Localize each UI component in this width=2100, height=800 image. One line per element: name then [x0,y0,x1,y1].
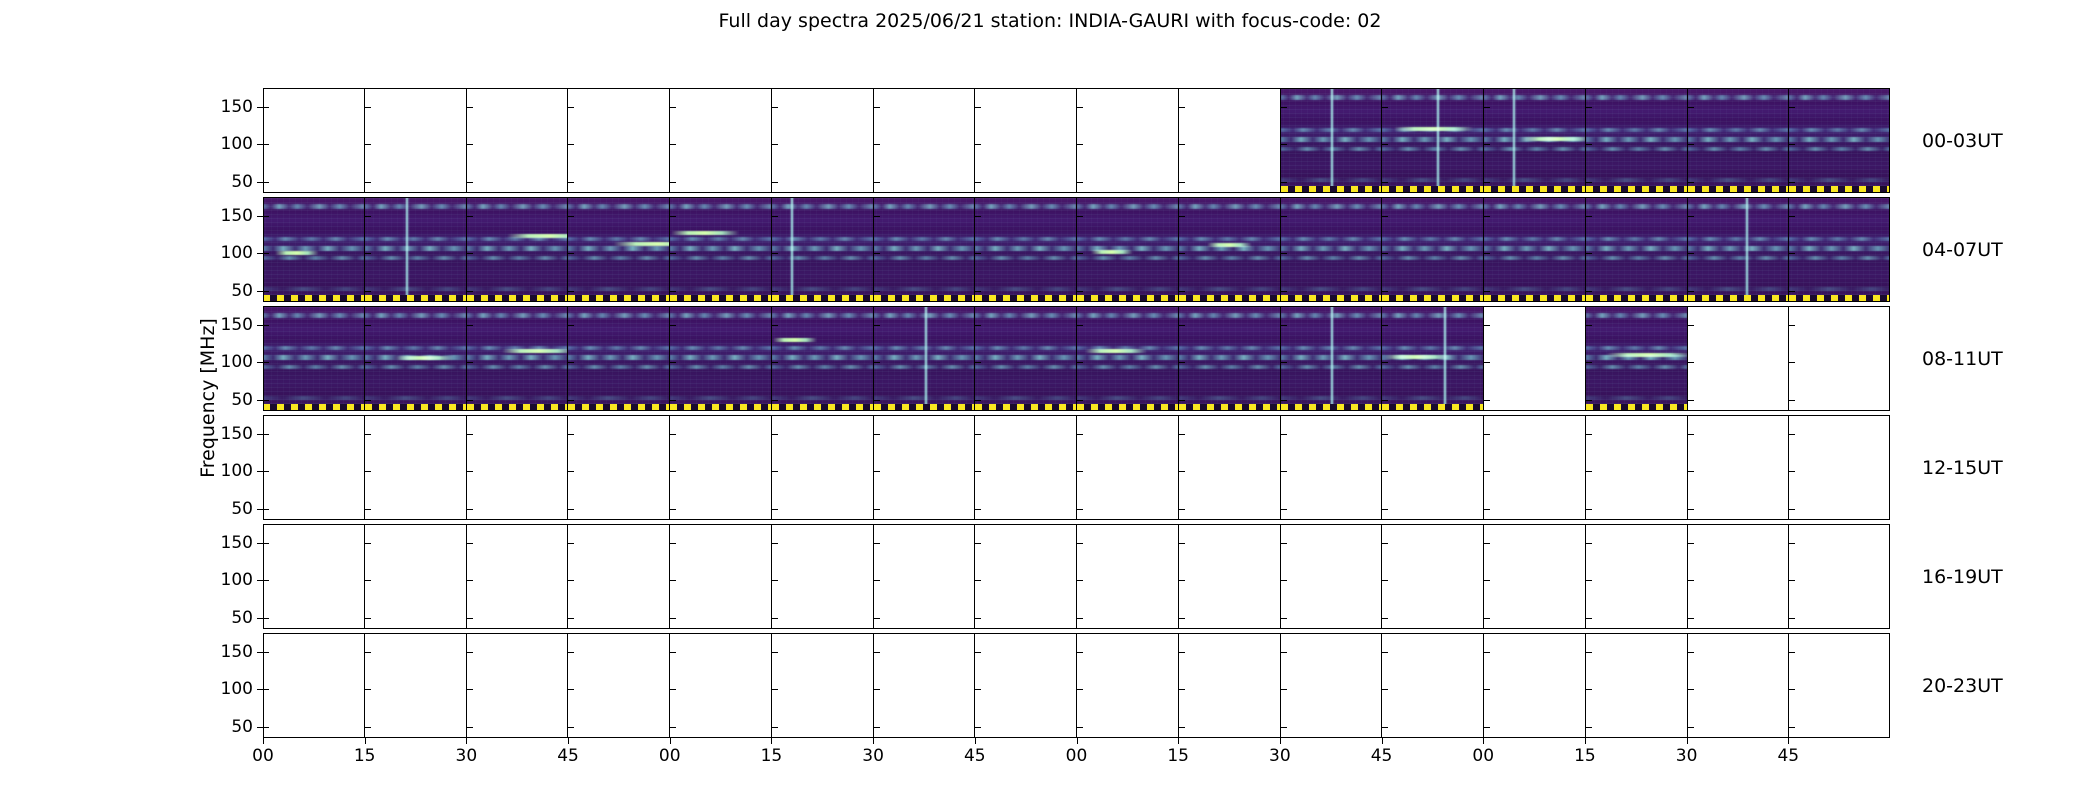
y-axis-tick [1789,652,1795,653]
data-present-flag-strip [874,295,975,302]
empty-panel[interactable] [568,524,670,629]
y-axis-tick [1484,471,1490,472]
y-axis-tick [1077,727,1083,728]
spectrogram-panel[interactable] [1688,197,1790,302]
y-axis-tick [1281,144,1287,145]
emission-band [568,237,669,241]
emission-band [1688,128,1789,132]
empty-panel[interactable] [975,633,1077,738]
emission-band [1179,365,1280,369]
emission-band [467,246,568,251]
y-axis-tick [772,543,778,544]
empty-panel[interactable] [1789,524,1890,629]
y-axis-tick [772,509,778,510]
empty-panel[interactable] [670,633,772,738]
spectrogram-image [568,197,669,302]
empty-panel[interactable] [1281,633,1383,738]
data-present-flag-strip [467,404,568,411]
empty-panel[interactable] [975,524,1077,629]
y-axis-tick [772,362,778,363]
emission-band [467,256,568,260]
emission-band [1688,287,1789,291]
empty-panel[interactable] [1382,524,1484,629]
emission-band [1077,355,1178,360]
spectrogram-panel[interactable] [670,306,772,411]
y-axis-tick [1586,253,1592,254]
y-axis-tick [1179,325,1185,326]
emission-band [975,355,1076,360]
empty-panel[interactable] [1077,415,1179,520]
emission-band [1179,256,1280,260]
empty-panel[interactable] [1484,306,1586,411]
y-axis-tick [1077,509,1083,510]
emission-band [975,287,1076,291]
spectrogram-panel[interactable] [263,197,365,302]
empty-panel[interactable] [263,88,365,193]
empty-panel[interactable] [1179,633,1281,738]
spectrogram-panel[interactable] [1179,197,1281,302]
empty-panel[interactable] [1484,415,1586,520]
empty-panel[interactable] [1077,524,1179,629]
empty-panel[interactable] [1586,524,1688,629]
y-axis-tick [1179,509,1185,510]
y-axis-tick [1484,182,1490,183]
y-axis-tick [1789,400,1795,401]
spectrogram-panel[interactable] [1688,88,1790,193]
emission-band [568,346,669,350]
empty-panel[interactable] [467,524,569,629]
empty-panel[interactable] [874,633,976,738]
y-axis-tick [1077,107,1083,108]
empty-panel[interactable] [975,88,1077,193]
empty-panel[interactable] [1688,524,1790,629]
y-axis-tick [1077,216,1083,217]
emission-band [874,237,975,241]
y-axis-tick [467,182,473,183]
y-axis-tick [1281,107,1287,108]
y-axis-tick [975,543,981,544]
y-axis-tick [1281,182,1287,183]
emission-band [1688,95,1789,100]
y-axis-tick [1586,182,1592,183]
empty-panel[interactable] [772,524,874,629]
emission-band [1688,256,1789,260]
spectrogram-row-12-15ut[interactable]: 5010015012-15UT [263,415,1890,520]
spectrogram-panel[interactable] [1789,197,1890,302]
y-axis-tick [257,107,263,108]
emission-band [670,365,771,369]
y-axis-tick [467,543,473,544]
spectrogram-panel[interactable] [1484,197,1586,302]
y-axis-tick [1484,291,1490,292]
emission-band [1484,95,1585,100]
emission-band [263,346,364,350]
spectrogram-panel[interactable] [1382,88,1484,193]
spectrogram-row-04-07ut[interactable]: 5010015004-07UT [263,197,1890,302]
data-present-flag-strip [467,295,568,302]
y-axis-tick [1077,291,1083,292]
data-present-flag-strip [365,295,466,302]
empty-panel[interactable] [467,88,569,193]
spectrogram-row-20-23ut[interactable]: 5010015020-23UT [263,633,1890,738]
emission-band [1382,313,1483,318]
spectrogram-panel[interactable] [1789,88,1890,193]
y-axis-tick [467,580,473,581]
spectrogram-row-00-03ut[interactable]: 5010015000-03UT [263,88,1890,193]
emission-band [670,396,771,400]
emission-band [365,365,466,369]
spectrogram-panel[interactable] [1382,306,1484,411]
spectrogram-image [772,197,873,302]
y-axis-tick [1281,471,1287,472]
x-axis-tick-label: 45 [964,746,986,766]
emission-band [772,355,873,360]
y-axis-tick [1688,107,1694,108]
y-axis-tick [1688,182,1694,183]
y-axis-tick [568,652,574,653]
empty-panel[interactable] [467,415,569,520]
emission-band [1789,287,1890,291]
y-axis-tick-label: 100 [221,570,253,590]
emission-band [670,287,771,291]
spectrogram-image [874,306,975,411]
empty-panel[interactable] [670,415,772,520]
y-axis-tick [1688,652,1694,653]
empty-panel[interactable] [1281,415,1383,520]
y-axis-tick [1179,400,1185,401]
spectrogram-panel[interactable] [1586,88,1688,193]
spectrogram-panel[interactable] [568,306,670,411]
emission-band [1789,128,1890,132]
y-axis-tick [257,509,263,510]
y-axis-tick [365,509,371,510]
y-axis-tick [975,216,981,217]
empty-panel[interactable] [263,524,365,629]
spectrogram-image [1484,197,1585,302]
emission-band [467,396,568,400]
spectrogram-image [568,306,669,411]
emission-band [1382,396,1483,400]
y-axis-tick [1789,107,1795,108]
spectrogram-panel[interactable] [467,197,569,302]
empty-panel[interactable] [1586,415,1688,520]
data-present-flag-strip [1789,186,1890,193]
y-axis-tick [772,253,778,254]
y-axis-tick [670,144,676,145]
y-axis-tick [1484,400,1490,401]
emission-burst [1091,250,1133,254]
empty-panel[interactable] [1484,633,1586,738]
y-axis-tick [257,652,263,653]
y-axis-tick [1484,543,1490,544]
y-axis-tick [257,325,263,326]
emission-band [1382,204,1483,209]
emission-band [975,256,1076,260]
emission-band [670,256,771,260]
y-axis-tick [1281,362,1287,363]
spectrogram-panel[interactable] [1586,306,1688,411]
empty-panel[interactable] [365,88,467,193]
data-present-flag-strip [568,404,669,411]
emission-burst [502,349,568,353]
y-axis-tick [1382,580,1388,581]
emission-band [1789,204,1890,209]
y-axis-tick [1484,434,1490,435]
spectrogram-panel[interactable] [568,197,670,302]
spectrogram-panel[interactable] [874,306,976,411]
y-axis-tick [467,253,473,254]
spectrogram-panel[interactable] [772,306,874,411]
spectrogram-image [1281,88,1382,193]
empty-panel[interactable] [365,524,467,629]
spectrogram-panel[interactable] [975,306,1077,411]
y-axis-tick-label: 50 [231,390,253,410]
empty-panel[interactable] [874,524,976,629]
emission-band [263,365,364,369]
emission-band [1281,246,1382,251]
y-axis-tick [1484,727,1490,728]
empty-panel[interactable] [365,633,467,738]
empty-panel[interactable] [1077,633,1179,738]
empty-panel[interactable] [365,415,467,520]
data-present-flag-strip [365,404,466,411]
rfi-spike [924,306,928,411]
y-axis-tick-label: 150 [221,97,253,117]
y-axis-tick [257,182,263,183]
y-axis-tick [670,253,676,254]
spectrogram-panel[interactable] [365,197,467,302]
spectrogram-panel[interactable] [1382,197,1484,302]
empty-panel[interactable] [772,88,874,193]
emission-band [1586,256,1687,260]
y-axis-tick [1789,325,1795,326]
emission-band [1484,256,1585,260]
empty-panel[interactable] [874,88,976,193]
empty-panel[interactable] [975,415,1077,520]
spectrogram-panel[interactable] [365,306,467,411]
spectrogram-row-16-19ut[interactable]: 5010015016-19UT [263,524,1890,629]
data-present-flag-strip [1179,295,1280,302]
spectrogram-panel[interactable] [1077,306,1179,411]
empty-panel[interactable] [1586,633,1688,738]
emission-band [1586,313,1687,318]
emission-band [1382,365,1483,369]
y-axis-tick [365,291,371,292]
empty-panel[interactable] [772,415,874,520]
y-axis-tick [1382,400,1388,401]
spectrogram-image [670,197,771,302]
y-axis-tick [975,689,981,690]
y-axis-tick [1179,618,1185,619]
empty-panel[interactable] [1789,415,1890,520]
y-axis-tick [1077,618,1083,619]
emission-band [1586,365,1687,369]
y-axis-tick [874,216,880,217]
y-axis-tick [257,689,263,690]
empty-panel[interactable] [263,633,365,738]
x-axis-tick-label: 00 [1066,746,1088,766]
y-axis-tick [257,362,263,363]
y-axis-tick [263,543,269,544]
y-axis-tick [365,652,371,653]
empty-panel[interactable] [1281,524,1383,629]
spectrogram-image [1077,306,1178,411]
y-axis-tick [263,291,269,292]
x-axis-tick-label: 30 [862,746,884,766]
empty-panel[interactable] [1077,88,1179,193]
y-axis-tick [568,618,574,619]
y-axis-tick [1179,543,1185,544]
y-axis-tick [1179,182,1185,183]
spectrogram-image [1688,197,1789,302]
emission-band [1281,287,1382,291]
emission-band [1077,237,1178,241]
y-axis-tick [568,727,574,728]
y-axis-tick [1281,216,1287,217]
emission-band [1789,95,1890,100]
y-axis-tick [1688,471,1694,472]
empty-panel[interactable] [1688,306,1790,411]
y-axis-tick [263,400,269,401]
emission-band [365,346,466,350]
emission-band [1586,178,1687,182]
x-axis-tick-label: 00 [252,746,274,766]
emission-band [1382,178,1483,182]
empty-panel[interactable] [1789,306,1890,411]
y-axis-tick [975,727,981,728]
spectrogram-panel[interactable] [1179,306,1281,411]
panel-strip [263,524,1890,629]
empty-panel[interactable] [1382,415,1484,520]
y-axis-tick [772,652,778,653]
y-axis-tick [975,362,981,363]
y-axis-tick [263,107,269,108]
emission-band [772,313,873,318]
empty-panel[interactable] [1382,633,1484,738]
emission-band [1586,346,1687,350]
y-axis-tick [1077,400,1083,401]
emission-band [365,287,466,291]
empty-panel[interactable] [772,633,874,738]
y-axis-tick [467,618,473,619]
y-axis-tick [568,543,574,544]
data-present-flag-strip [1382,186,1483,193]
spectrogram-panel[interactable] [975,197,1077,302]
spectrogram-panel[interactable] [263,306,365,411]
y-axis-tick [1281,434,1287,435]
y-axis-tick [1077,689,1083,690]
data-present-flag-strip [1281,295,1382,302]
spectrogram-panel[interactable] [874,197,976,302]
y-axis-tick [263,580,269,581]
y-axis-tick [874,253,880,254]
empty-panel[interactable] [1789,633,1890,738]
y-axis-tick [772,107,778,108]
y-axis-tick-label: 100 [221,352,253,372]
y-axis-tick [1789,618,1795,619]
spectrogram-panel[interactable] [670,197,772,302]
y-axis-tick [467,107,473,108]
empty-panel[interactable] [670,88,772,193]
spectrogram-panel[interactable] [1484,88,1586,193]
empty-panel[interactable] [1179,415,1281,520]
empty-panel[interactable] [1484,524,1586,629]
y-axis-tick [365,144,371,145]
y-axis-tick [1281,509,1287,510]
spectrogram-panel[interactable] [1281,197,1383,302]
spectrogram-panel[interactable] [772,197,874,302]
spectrogram-panel[interactable] [467,306,569,411]
spectrogram-panel[interactable] [1281,306,1383,411]
y-axis-tick [874,400,880,401]
emission-band [1789,256,1890,260]
empty-panel[interactable] [670,524,772,629]
y-axis-tick [1586,727,1592,728]
spectrogram-panel[interactable] [1281,88,1383,193]
y-axis-tick [670,325,676,326]
y-axis-tick [1077,580,1083,581]
empty-panel[interactable] [1688,633,1790,738]
emission-band [670,355,771,360]
emission-band [1484,287,1585,291]
empty-panel[interactable] [1179,524,1281,629]
y-axis-tick [1789,253,1795,254]
empty-panel[interactable] [1688,415,1790,520]
spectrogram-image [772,306,873,411]
spectrogram-row-08-11ut[interactable]: 5010015008-11UT [263,306,1890,411]
emission-burst [773,338,818,342]
empty-panel[interactable] [568,415,670,520]
y-axis-tick [772,182,778,183]
y-axis-tick [772,689,778,690]
empty-panel[interactable] [467,633,569,738]
y-axis-tick [1688,253,1694,254]
y-axis-tick [263,325,269,326]
empty-panel[interactable] [874,415,976,520]
emission-band [365,237,466,241]
emission-band [1789,237,1890,241]
empty-panel[interactable] [568,88,670,193]
y-axis-tick [467,471,473,472]
spectrogram-image [874,197,975,302]
y-axis-tick [568,253,574,254]
y-axis-tick [772,216,778,217]
emission-band [1484,237,1585,241]
emission-band [1382,256,1483,260]
y-axis-tick [874,471,880,472]
row-time-range-label: 16-19UT [1922,566,2003,588]
y-axis-tick [1586,144,1592,145]
data-present-flag-strip [1484,186,1585,193]
emission-band [975,365,1076,369]
y-axis-tick [365,216,371,217]
y-axis-tick [467,144,473,145]
empty-panel[interactable] [1179,88,1281,193]
y-axis-tick [1281,580,1287,581]
rfi-spike [1436,88,1440,193]
emission-band [1077,365,1178,369]
spectrogram-panel[interactable] [1077,197,1179,302]
panel-strip [263,633,1890,738]
y-axis-tick [1789,580,1795,581]
y-axis-tick [1382,471,1388,472]
spectrogram-image [1179,197,1280,302]
empty-panel[interactable] [263,415,365,520]
spectrogram-panel[interactable] [1586,197,1688,302]
emission-band [975,313,1076,318]
emission-band [772,237,873,241]
empty-panel[interactable] [568,633,670,738]
